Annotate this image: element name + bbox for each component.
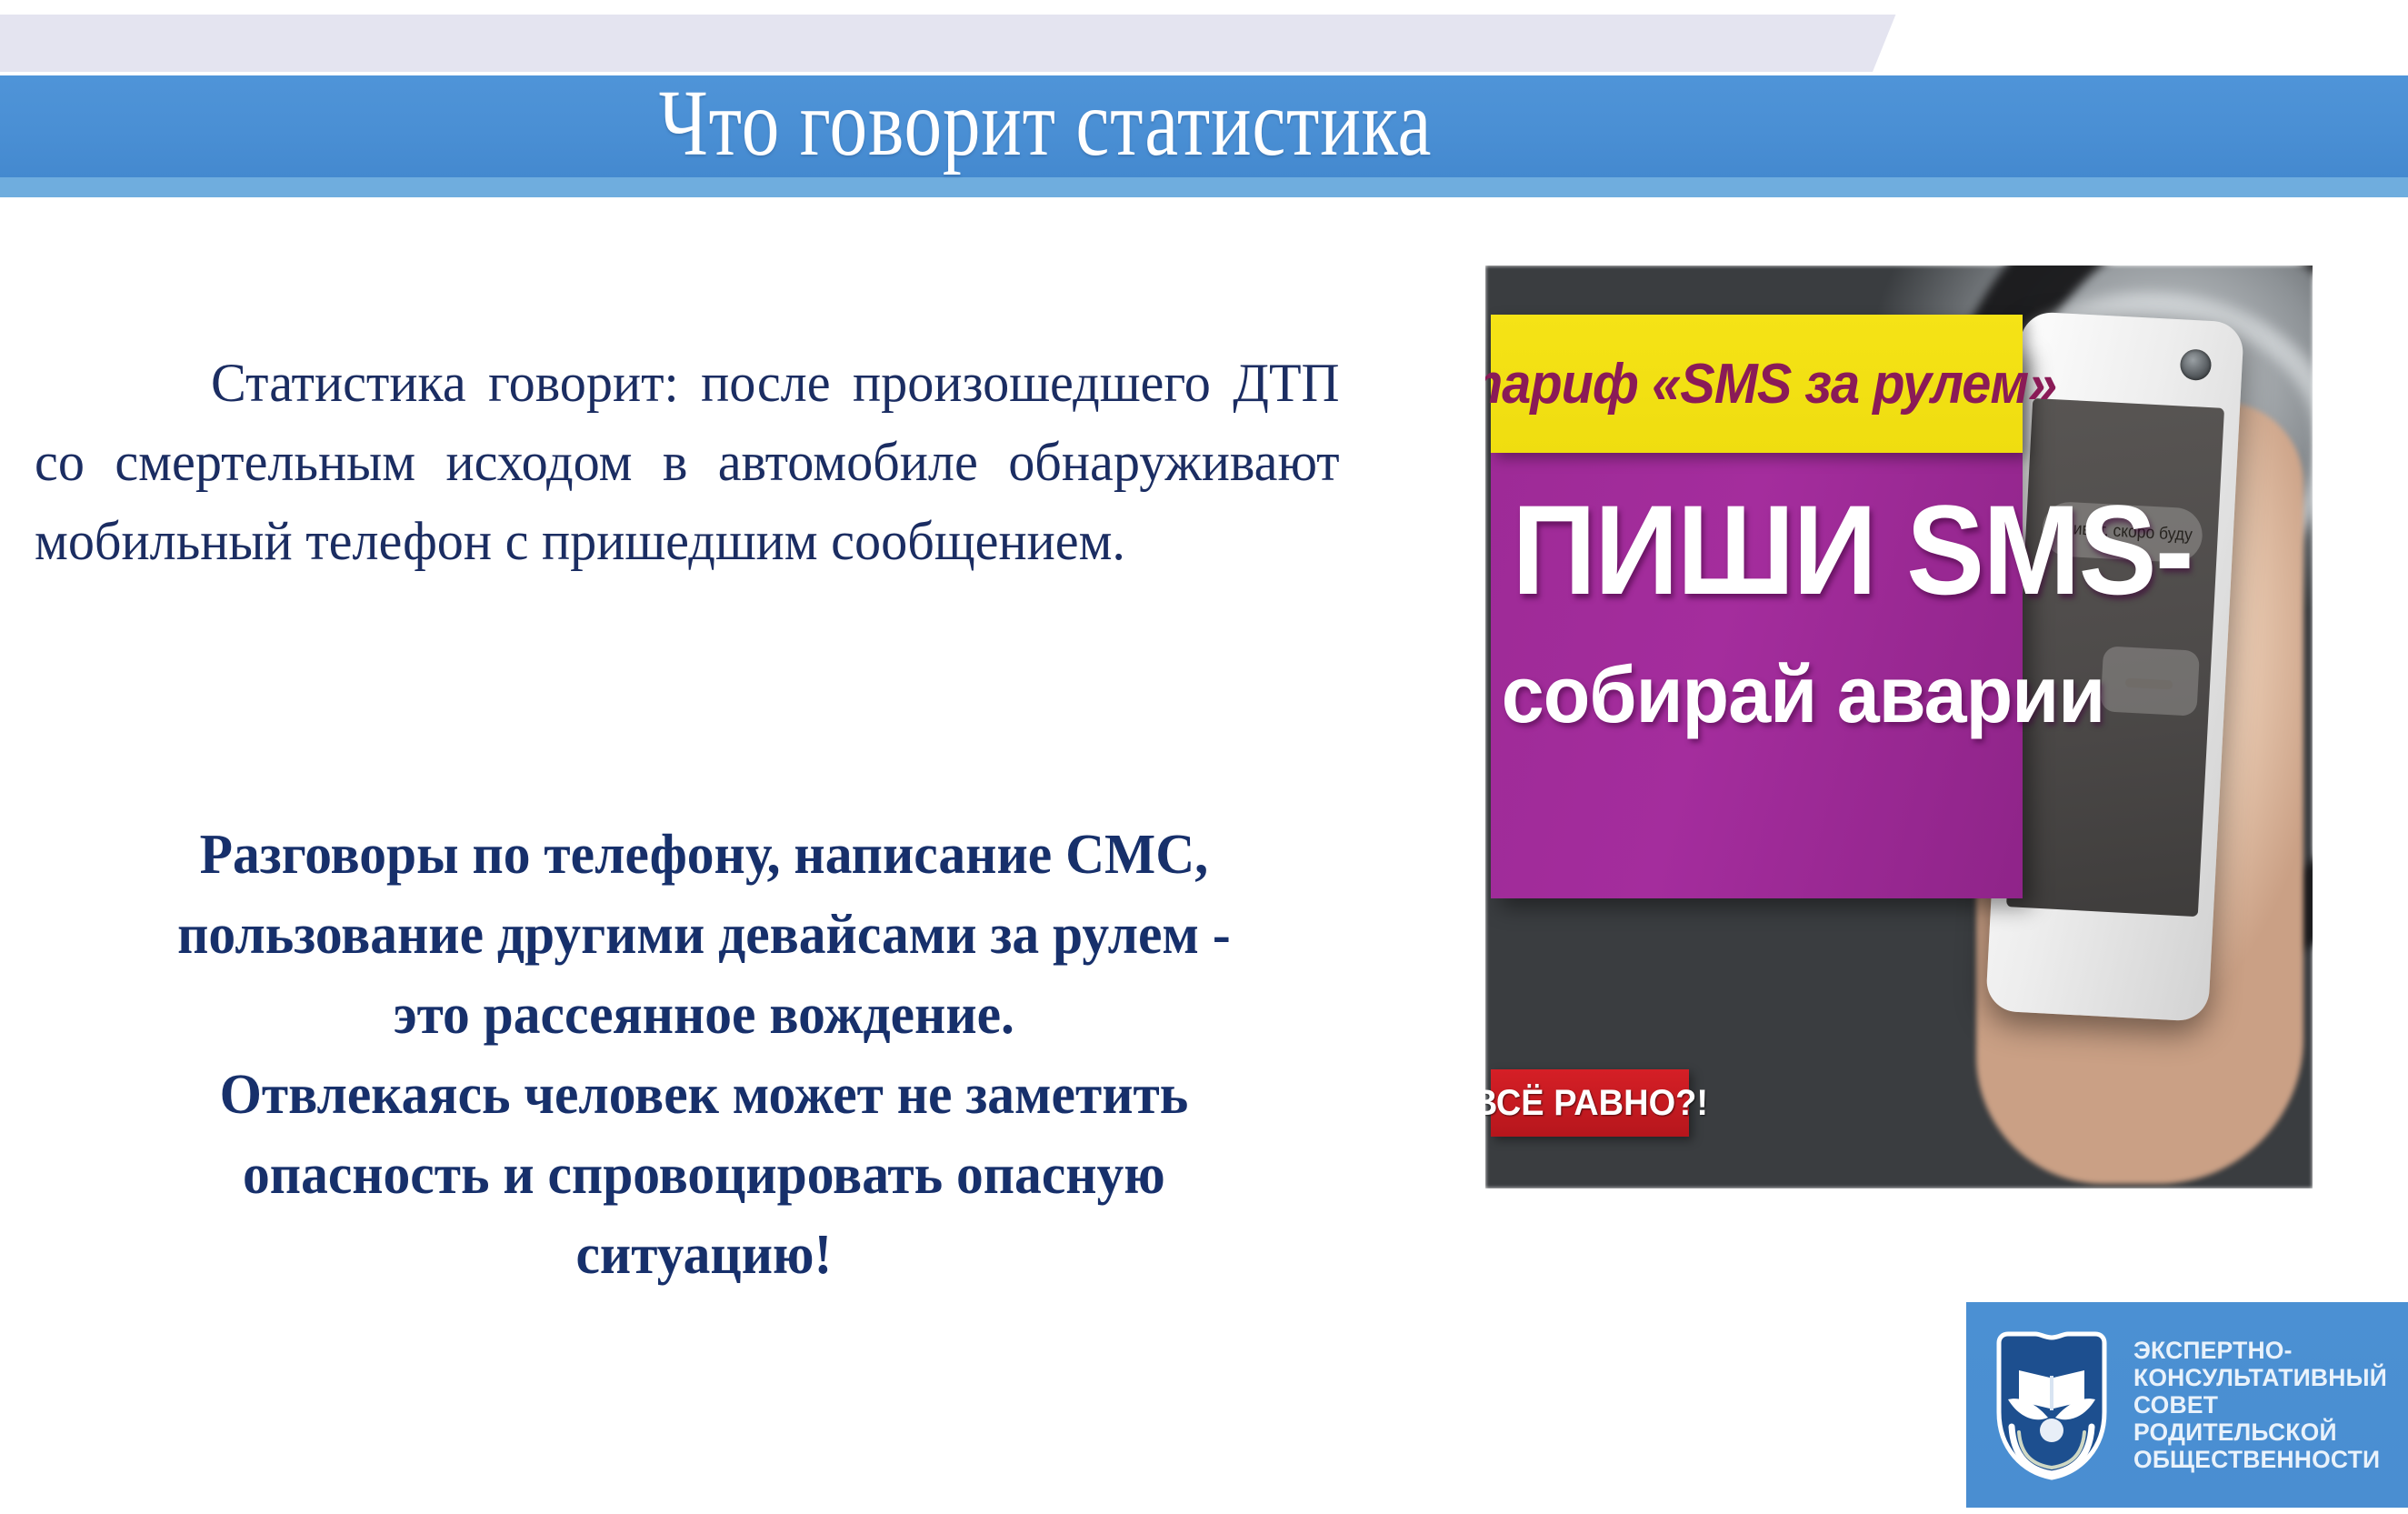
logo-line-5: ОБЩЕСТВЕННОСТИ <box>2133 1446 2387 1473</box>
logo-line-2: КОНСУЛЬТАТИВНЫЙ <box>2133 1364 2387 1391</box>
ad-board: тариф «SMS за рулем» ПИШИ SMS- собирай а… <box>1491 346 2023 898</box>
organization-name: ЭКСПЕРТНО- КОНСУЛЬТАТИВНЫЙ СОВЕТ РОДИТЕЛ… <box>2133 1337 2387 1473</box>
emphasis-line-3: это рассеянное вождение. <box>36 975 1372 1055</box>
page-title: Что говорит статистика <box>209 69 1882 178</box>
slide-canvas: Что говорит статистика Статистика говори… <box>0 0 2408 1514</box>
phone-camera-icon <box>2180 348 2213 381</box>
ad-tariff-text: тариф «SMS за рулем» <box>1485 352 2057 416</box>
emphasis-line-2: пользование другими девайсами за рулем - <box>36 895 1372 975</box>
header-blue-band-underline <box>0 177 2408 197</box>
message-bubble-empty <box>2100 646 2200 716</box>
logo-line-4: РОДИТЕЛЬСКОЙ <box>2133 1419 2387 1446</box>
ad-subline: собирай аварии <box>1502 651 2013 738</box>
ad-red-badge-text: ВСЁ РАВНО?! <box>1485 1083 1708 1124</box>
poster-image: Привет, скоро буду тариф «SMS за рулем» … <box>1485 266 2313 1188</box>
logo-line-3: СОВЕТ <box>2133 1391 2387 1419</box>
emphasis-line-5: опасность и спровоцировать опасную <box>36 1135 1372 1215</box>
intro-paragraph: Статистика говорит: после произошедшего … <box>35 344 1340 581</box>
ad-red-badge: ВСЁ РАВНО?! <box>1491 1069 1689 1137</box>
emphasis-line-6: ситуацию! <box>36 1215 1372 1295</box>
emphasis-line-1: Разговоры по телефону, написание СМС, <box>36 815 1372 895</box>
ad-tariff-banner: тариф «SMS за рулем» <box>1491 315 2023 453</box>
shield-emblem-icon <box>1992 1329 2112 1481</box>
emphasis-line-4: Отвлекаясь человек может не заметить <box>36 1055 1372 1135</box>
ad-headline: ПИШИ SMS- <box>1512 482 2001 618</box>
ad-slogan: ПИШИ SMS- собирай аварии <box>1491 482 2023 738</box>
emphasis-block: Разговоры по телефону, написание СМС, по… <box>36 815 1372 1295</box>
organization-logo: ЭКСПЕРТНО- КОНСУЛЬТАТИВНЫЙ СОВЕТ РОДИТЕЛ… <box>1966 1302 2408 1508</box>
logo-line-1: ЭКСПЕРТНО- <box>2133 1337 2387 1364</box>
header-lavender-angled-edge <box>0 15 1895 72</box>
